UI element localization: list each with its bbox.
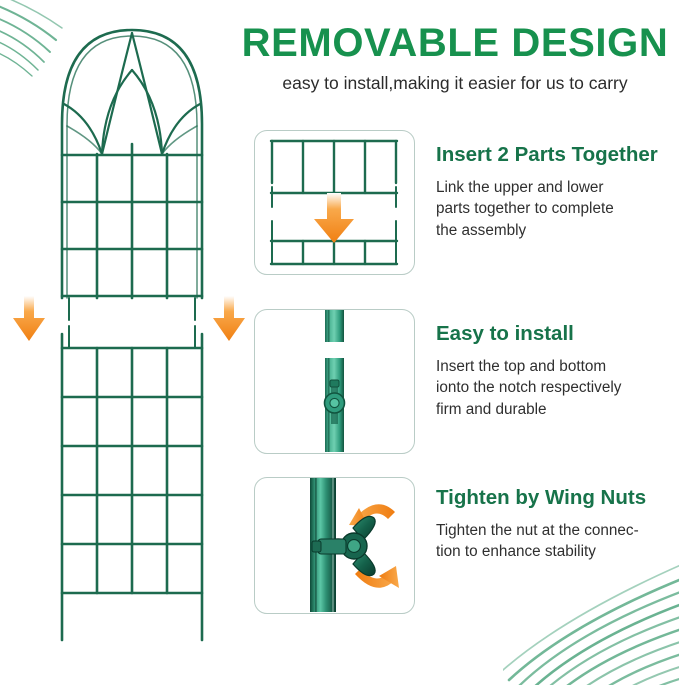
feature-body: Tighten the nut at the connec- tion to e…: [436, 520, 679, 563]
panel-down-arrow: [314, 193, 354, 243]
feature-body: Link the upper and lower parts together …: [436, 177, 679, 242]
illustration-panel-wing-nut: [254, 477, 415, 614]
feature-text-wing-nut: Tighten by Wing Nuts Tighten the nut at …: [415, 477, 679, 563]
feature-title: Tighten by Wing Nuts: [436, 487, 679, 510]
feature-body: Insert the top and bottom ionto the notc…: [436, 356, 679, 421]
feature-body-line: parts together to complete: [436, 198, 679, 220]
page-title: REMOVABLE DESIGN: [236, 22, 674, 64]
illustration-panel-easy-to-install: [254, 309, 415, 454]
header: REMOVABLE DESIGN easy to install,making …: [236, 22, 674, 94]
feature-insert-2-parts-together: Insert 2 Parts Together Link the upper a…: [254, 130, 679, 275]
feature-easy-to-install: Easy to install Insert the top and botto…: [254, 309, 679, 454]
feature-title: Easy to install: [436, 323, 679, 346]
feature-tighten-by-wing-nuts: Tighten by Wing Nuts Tighten the nut at …: [254, 477, 679, 614]
feature-body-line: Insert the top and bottom: [436, 356, 679, 378]
feature-title: Insert 2 Parts Together: [436, 144, 679, 167]
page-subtitle: easy to install,making it easier for us …: [236, 73, 674, 94]
split-arrow-left: [12, 296, 46, 342]
feature-body-line: firm and durable: [436, 399, 679, 421]
feature-body-line: Link the upper and lower: [436, 177, 679, 199]
feature-body-line: the assembly: [436, 220, 679, 242]
feature-body-line: Tighten the nut at the connec-: [436, 520, 679, 542]
feature-text-insert-2-parts: Insert 2 Parts Together Link the upper a…: [415, 130, 679, 242]
feature-body-line: tion to enhance stability: [436, 541, 679, 563]
split-arrow-right: [212, 296, 246, 342]
feature-body-line: ionto the notch respectively: [436, 377, 679, 399]
feature-text-easy-to-install: Easy to install Insert the top and botto…: [415, 309, 679, 421]
illustration-panel-insert-2-parts: [254, 130, 415, 275]
